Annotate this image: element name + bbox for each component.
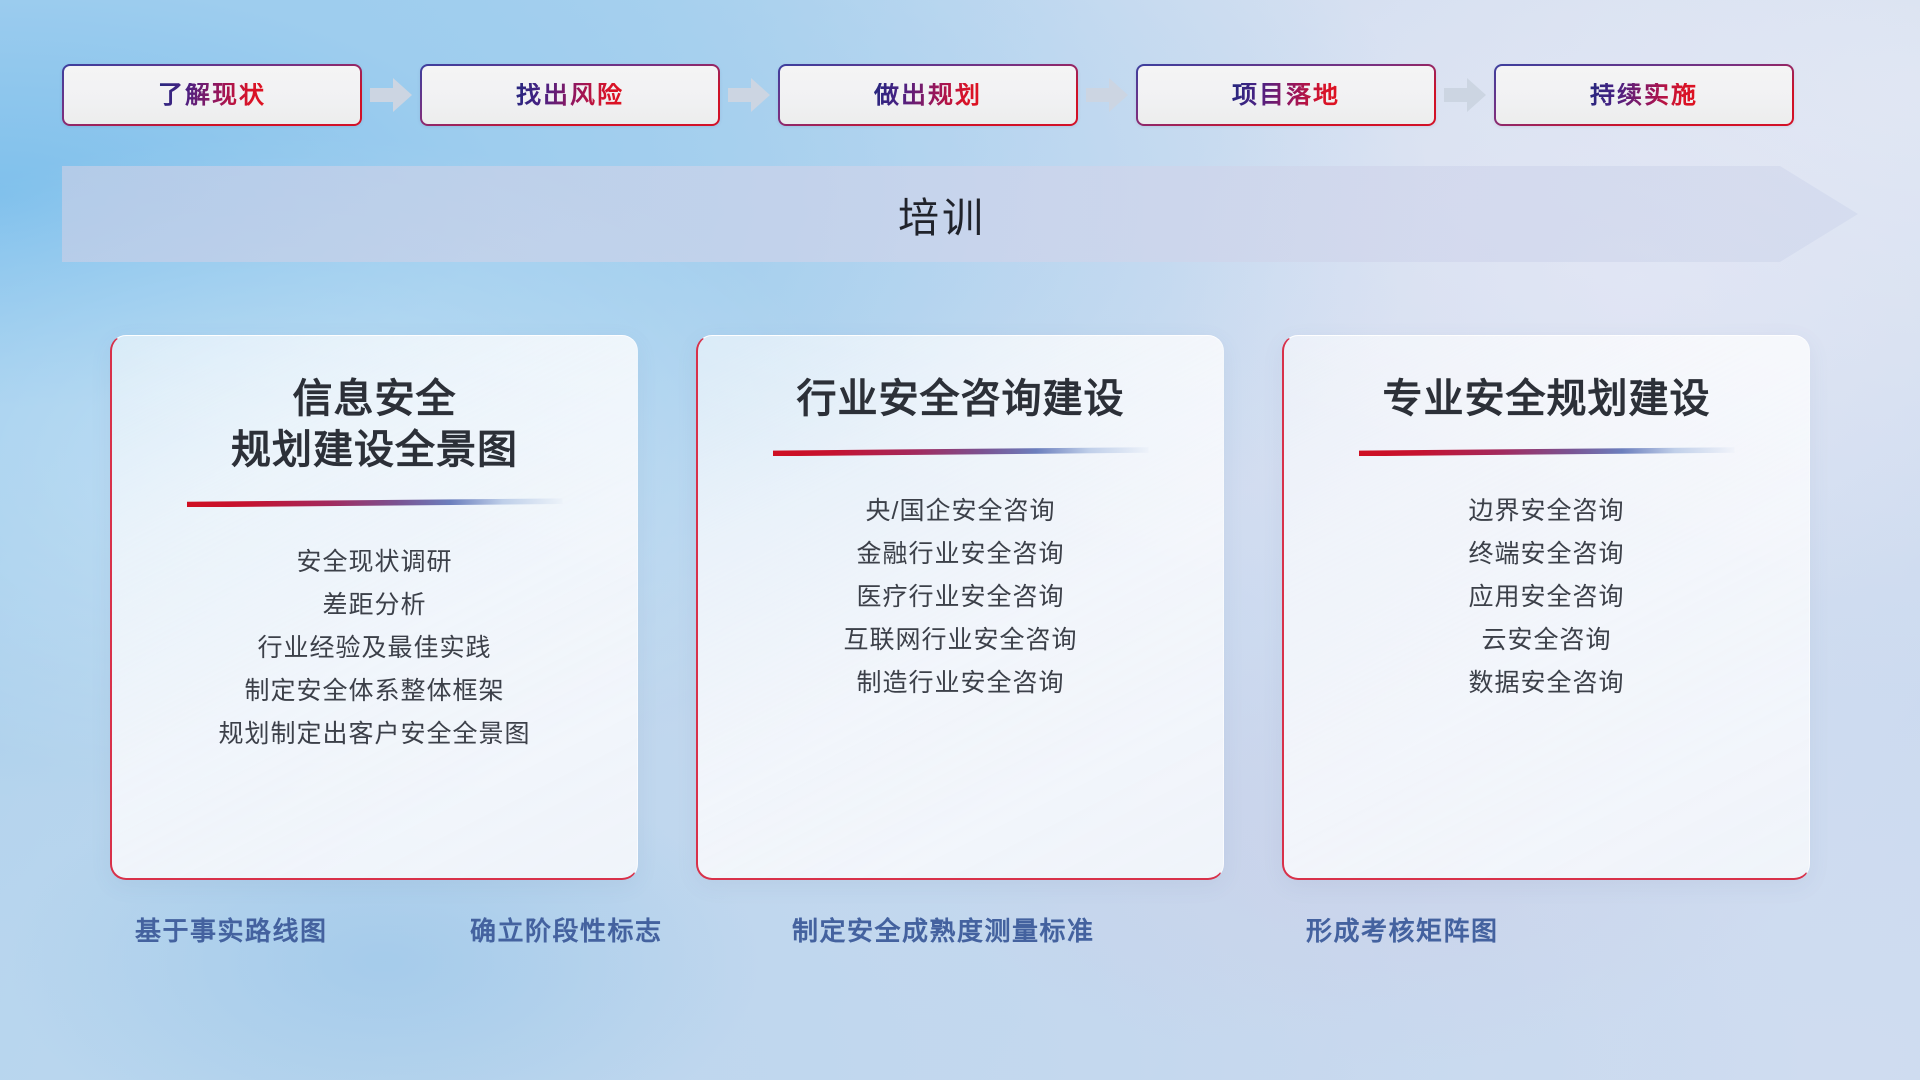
footer-label-2: 确立阶段性标志 <box>470 918 663 944</box>
step-box-4-inner: 项目落地 <box>1138 66 1434 124</box>
step-label-5: 持续实施 <box>1590 83 1698 108</box>
right-arrow-icon-3 <box>1078 75 1136 115</box>
step-box-1-inner: 了解现状 <box>64 66 360 124</box>
right-arrow-icon-1 <box>362 75 420 115</box>
step-label-3: 做出规划 <box>874 83 982 108</box>
card-information-security-panorama[interactable]: 信息安全 规划建设全景图 安全现状调研 差距分析 行业经验及最佳实践 制定安全体… <box>110 335 638 880</box>
step-box-4[interactable]: 项目落地 <box>1136 64 1436 126</box>
step-box-5[interactable]: 持续实施 <box>1494 64 1794 126</box>
list-item: 数据安全咨询 <box>1284 662 1809 705</box>
list-item: 行业经验及最佳实践 <box>112 627 637 670</box>
list-item: 制造行业安全咨询 <box>698 662 1223 705</box>
list-item: 制定安全体系整体框架 <box>112 670 637 713</box>
card-list-2: 央/国企安全咨询 金融行业安全咨询 医疗行业安全咨询 互联网行业安全咨询 制造行… <box>698 490 1223 705</box>
footer-label-3: 制定安全成熟度测量标准 <box>792 918 1095 944</box>
step-box-3-inner: 做出规划 <box>780 66 1076 124</box>
step-label-2: 找出风险 <box>516 83 624 108</box>
list-item: 云安全咨询 <box>1284 619 1809 662</box>
right-arrow-icon-4 <box>1436 75 1494 115</box>
card-industry-security-consulting[interactable]: 行业安全咨询建设 央/国企安全咨询 金融行业安全咨询 医疗行业安全咨询 互联网行… <box>696 335 1224 880</box>
footer-label-1: 基于事实路线图 <box>135 918 328 944</box>
list-item: 金融行业安全咨询 <box>698 533 1223 576</box>
list-item: 终端安全咨询 <box>1284 533 1809 576</box>
card-professional-security-planning[interactable]: 专业安全规划建设 边界安全咨询 终端安全咨询 应用安全咨询 云安全咨询 数据安全… <box>1282 335 1810 880</box>
list-item: 应用安全咨询 <box>1284 576 1809 619</box>
card-title-1: 信息安全 规划建设全景图 <box>231 374 518 476</box>
card-title-3: 专业安全规划建设 <box>1383 374 1711 425</box>
step-label-1: 了解现状 <box>158 83 266 108</box>
slide-stage: 了解现状 找出风险 做出规划 <box>0 0 1920 1080</box>
list-item: 互联网行业安全咨询 <box>698 619 1223 662</box>
step-box-5-inner: 持续实施 <box>1496 66 1792 124</box>
training-banner: 培训 <box>62 166 1858 262</box>
card-row: 信息安全 规划建设全景图 安全现状调研 差距分析 行业经验及最佳实践 制定安全体… <box>110 335 1810 880</box>
card-divider-3 <box>1359 447 1735 456</box>
list-item: 边界安全咨询 <box>1284 490 1809 533</box>
list-item: 医疗行业安全咨询 <box>698 576 1223 619</box>
right-arrow-icon-2 <box>720 75 778 115</box>
step-box-3[interactable]: 做出规划 <box>778 64 1078 126</box>
training-banner-title: 培训 <box>62 166 1858 262</box>
footer-label-4: 形成考核矩阵图 <box>1306 918 1499 944</box>
step-label-4: 项目落地 <box>1232 83 1340 108</box>
card-divider-2 <box>773 447 1149 456</box>
process-step-row: 了解现状 找出风险 做出规划 <box>62 64 1858 126</box>
card-title-2: 行业安全咨询建设 <box>797 374 1125 425</box>
card-list-1: 安全现状调研 差距分析 行业经验及最佳实践 制定安全体系整体框架 规划制定出客户… <box>112 541 637 756</box>
step-box-1[interactable]: 了解现状 <box>62 64 362 126</box>
list-item: 安全现状调研 <box>112 541 637 584</box>
step-box-2-inner: 找出风险 <box>422 66 718 124</box>
list-item: 央/国企安全咨询 <box>698 490 1223 533</box>
list-item: 规划制定出客户安全全景图 <box>112 713 637 756</box>
list-item: 差距分析 <box>112 584 637 627</box>
card-list-3: 边界安全咨询 终端安全咨询 应用安全咨询 云安全咨询 数据安全咨询 <box>1284 490 1809 705</box>
step-box-2[interactable]: 找出风险 <box>420 64 720 126</box>
card-divider-1 <box>187 498 563 507</box>
footer-label-row: 基于事实路线图 确立阶段性标志 制定安全成熟度测量标准 形成考核矩阵图 <box>0 918 1920 968</box>
